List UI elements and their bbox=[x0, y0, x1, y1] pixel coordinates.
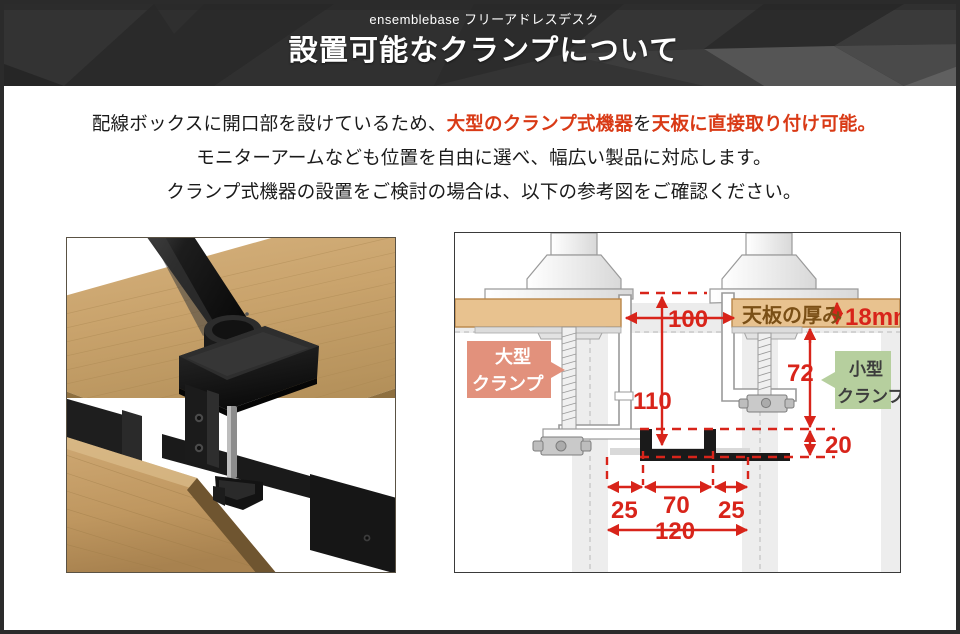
dim-120-label: 120 bbox=[655, 518, 695, 545]
small-clamp-label-1: 小型 bbox=[849, 359, 883, 379]
lead-line-2: モニターアームなども位置を自由に選べ、幅広い製品に対応します。 bbox=[4, 146, 960, 169]
lead-line-1: 配線ボックスに開口部を設けているため、大型のクランプ式機器を天板に直接取り付け可… bbox=[4, 112, 960, 135]
header-subtitle: ensemblebase フリーアドレスデスク bbox=[369, 13, 598, 26]
page-header: ensemblebase フリーアドレスデスク 設置可能なクランプについて bbox=[4, 4, 960, 86]
page-title: 設置可能なクランプについて bbox=[289, 37, 680, 66]
dim-72-label: 72 bbox=[787, 360, 814, 387]
tabletop-thickness-label: 天板の厚み bbox=[742, 303, 842, 327]
clamp-dimension-diagram-panel: 100 110 72 20 25 70 25 120 18mm 天板の厚み 大型… bbox=[454, 232, 901, 573]
lead-line-1-emph-a: 大型のクランプ式機器 bbox=[447, 113, 633, 134]
dim-20-label: 20 bbox=[825, 432, 852, 459]
large-clamp-label-2: クランプ bbox=[472, 373, 544, 394]
dim-25-right-label: 25 bbox=[718, 497, 745, 524]
product-photo-panel bbox=[66, 237, 396, 573]
dim-110-label: 110 bbox=[633, 388, 672, 415]
desk-clamp-photograph bbox=[67, 238, 396, 573]
small-clamp-threaded-rod bbox=[758, 333, 771, 395]
lead-line-3: クランプ式機器の設置をご検討の場合は、以下の参考図をご確認ください。 bbox=[4, 180, 960, 203]
large-clamp-callout: 大型 クランプ bbox=[467, 341, 565, 398]
lead-line-1-plain-b: を bbox=[633, 113, 652, 134]
lead-line-1-emph-b: 天板に直接取り付け可能。 bbox=[652, 113, 876, 134]
dim-25-left-label: 25 bbox=[611, 497, 638, 524]
page-root: ensemblebase フリーアドレスデスク 設置可能なクランプについて 配線… bbox=[0, 0, 960, 634]
lead-copy: 配線ボックスに開口部を設けているため、大型のクランプ式機器を天板に直接取り付け可… bbox=[4, 112, 960, 214]
small-clamp-label-2: クランプ bbox=[837, 386, 900, 406]
dim-18-label: 18mm bbox=[845, 304, 900, 331]
lead-line-1-plain-a: 配線ボックスに開口部を設けているため、 bbox=[92, 113, 447, 134]
dim-100-label: 100 bbox=[668, 306, 708, 333]
leg-band-right bbox=[881, 303, 900, 572]
dim-70-label: 70 bbox=[663, 492, 690, 519]
clamp-dimension-diagram: 100 110 72 20 25 70 25 120 18mm 天板の厚み 大型… bbox=[455, 233, 900, 572]
large-clamp-label-1: 大型 bbox=[495, 346, 531, 367]
tabletop-left bbox=[455, 299, 621, 327]
